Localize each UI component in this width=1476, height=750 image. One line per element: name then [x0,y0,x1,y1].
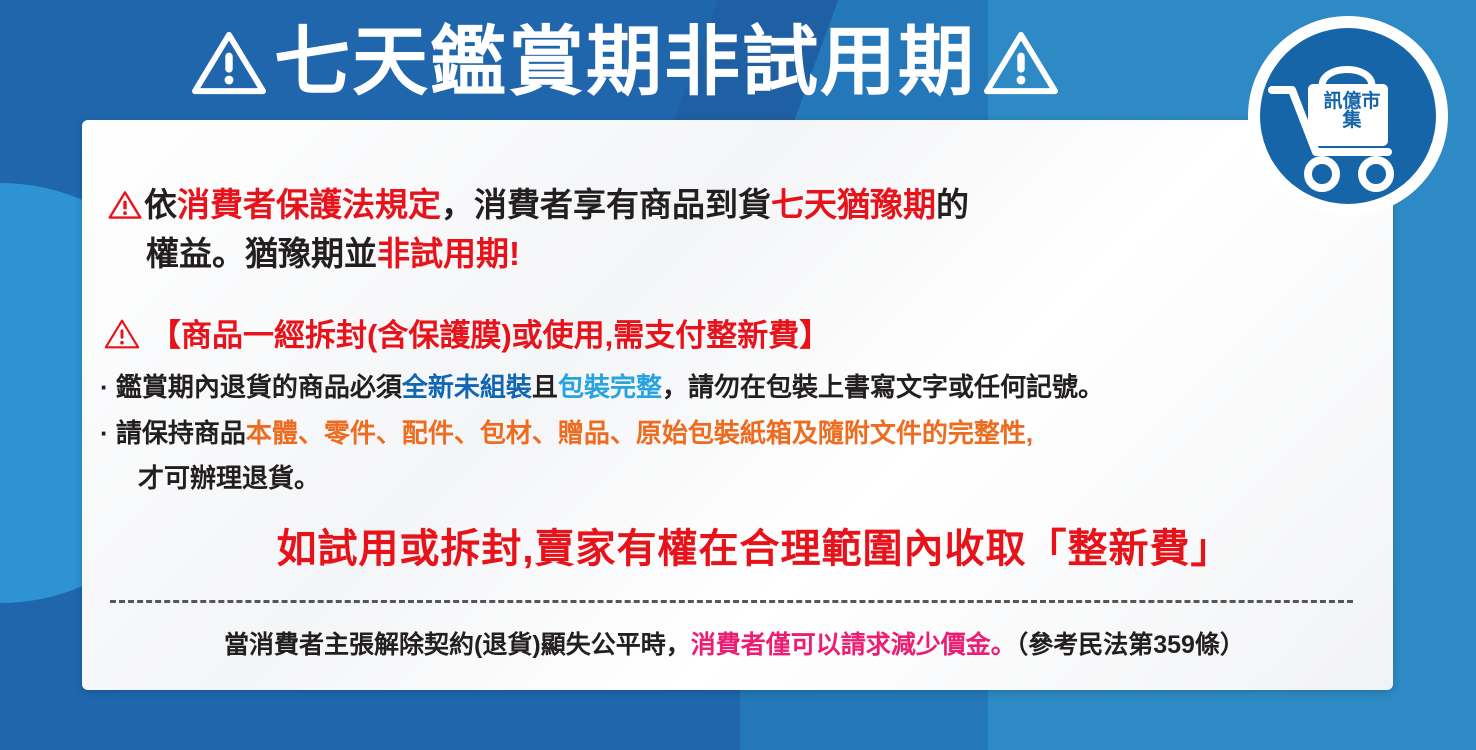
footer-seg-2-highlight: 消費者僅可以請求減少價金。 [691,631,1016,659]
b1-seg-1: 鑑賞期內退貨的商品必須 [109,372,402,402]
page-title: 七天鑑賞期非試用期 [274,25,976,101]
footer-seg-3: （參考民法第359條） [1016,631,1245,659]
b2-seg-2-highlight: 本體、零件、配件、包材、贈品、原始包裝紙箱及隨附文件的完整性 [246,418,1026,448]
p1-seg-3: ，消費者享有商品到貨 [441,186,771,223]
p1l2-seg-1: 權益。猶豫期並 [146,235,377,272]
banner-title: 七天鑑賞期非試用期 [0,8,1250,118]
xunyi-market-cart-logo: 訊億市集 [1248,16,1448,216]
b1-seg-4-highlight: 包裝完整 [558,372,662,402]
promo-banner-root: 七天鑑賞期非試用期 訊億市集 [0,0,1476,750]
b2-seg-1: 請保持商品 [109,418,246,448]
highlight-restocking-statement: 如試用或拆封,賣家有權在合理範圍內收取「整新費」 [134,516,1374,574]
list-item: · 請保持商品本體、零件、配件、包材、贈品、原始包裝紙箱及隨附文件的完整性, [100,413,1033,450]
warning-triangle-icon [108,190,142,220]
list-item-continuation: 才可辦理退貨。 [138,458,320,495]
p1-seg-1: 依 [144,186,177,223]
warning-triangle-icon [192,30,266,96]
warning-triangle-icon [984,30,1058,96]
bullet-marker: · [100,418,109,448]
logo-inner-disc: 訊億市集 [1260,28,1436,204]
b2-seg-3: , [1026,418,1033,448]
list-item: · 鑑賞期內退貨的商品必須全新未組裝且包裝完整，請勿在包裝上書寫文字或任何記號。 [100,367,1104,404]
p1l2-seg-2-highlight: 非試用期 [377,235,509,272]
footer-seg-1: 當消費者主張解除契約(退貨)顯失公平時， [224,631,691,659]
divider [110,600,1353,603]
p1-seg-2-highlight: 消費者保護法規定 [177,186,441,223]
paragraph-1-line-1: 依消費者保護法規定，消費者享有商品到貨七天猶豫期的 [108,178,969,226]
paragraph-1-line-2: 權益。猶豫期並非試用期! [146,227,520,275]
warning-triangle-icon [104,318,140,350]
notice-card: 依消費者保護法規定，消費者享有商品到貨七天猶豫期的 權益。猶豫期並非試用期! 【… [82,120,1393,690]
p1-seg-4-highlight: 七天猶豫期 [771,186,936,223]
p1-seg-5: 的 [936,186,969,223]
paragraph-2-text: 【商品一經拆封(含保護膜)或使用,需支付整新費】 [150,318,830,353]
footer-legal-note: 當消費者主張解除契約(退貨)顯失公平時，消費者僅可以請求減少價金。（參考民法第3… [112,625,1357,661]
logo-basket-label: 訊億市集 [1321,92,1383,131]
b1-seg-3: 且 [532,372,558,402]
p1l2-seg-3: ! [509,235,520,272]
b1-seg-2-highlight: 全新未組裝 [402,372,532,402]
bullet-marker: · [100,372,109,402]
paragraph-2-restocking-fee: 【商品一經拆封(含保護膜)或使用,需支付整新費】 [104,310,830,355]
b1-seg-5: ，請勿在包裝上書寫文字或任何記號。 [662,372,1104,402]
